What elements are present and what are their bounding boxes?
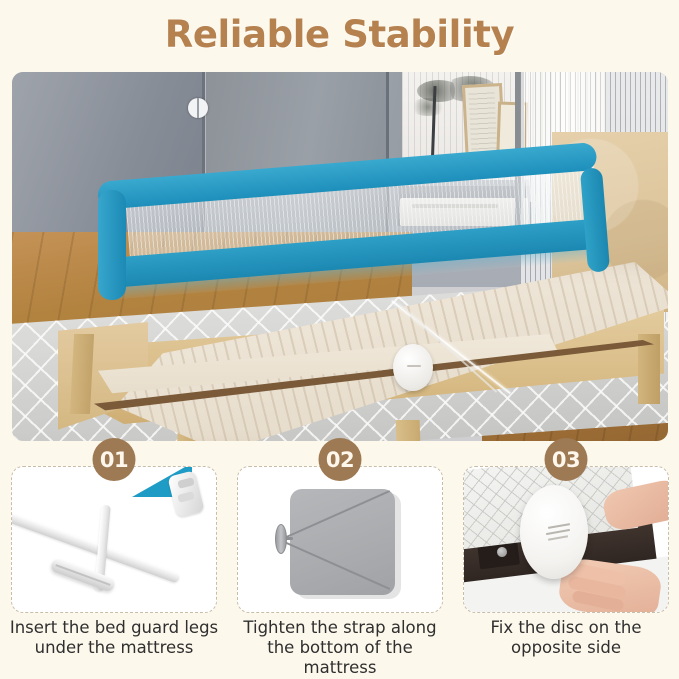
step-badge-2: 02 — [319, 438, 362, 481]
step-image-frame-1 — [11, 466, 217, 613]
step-caption-2: Tighten the strap along the bottom of th… — [231, 618, 449, 678]
step-badge-1: 01 — [93, 438, 136, 481]
step-image-frame-2 — [237, 466, 443, 613]
strap-disc-icon — [275, 524, 287, 554]
step-illustration-2 — [238, 467, 442, 612]
installation-steps: 01 Insert the bed guard legs under the m… — [0, 448, 679, 679]
picture-frame-large-inner — [468, 91, 497, 154]
page-title: Reliable Stability — [0, 13, 679, 56]
step-caption-1: Insert the bed guard legs under the matt… — [5, 618, 223, 658]
step-card-1: 01 Insert the bed guard legs under the m… — [11, 448, 217, 679]
bed-guard-left-post — [98, 190, 126, 300]
plant-leaf-icon — [410, 98, 446, 116]
step-caption-3: Fix the disc on the opposite side — [457, 618, 675, 658]
step-badge-3: 03 — [545, 438, 588, 481]
product-infographic: Reliable Stability — [0, 0, 679, 679]
bed-leg — [396, 420, 423, 441]
step-card-2: 02 Tighten the strap along the bottom of… — [237, 448, 443, 679]
anchor-disc — [393, 344, 433, 391]
step-image-frame-3 — [463, 466, 669, 613]
hero-product-photo — [12, 72, 668, 441]
anchor-disc-slot — [407, 365, 421, 367]
step-illustration-3 — [464, 467, 668, 612]
wardrobe-knob-split — [197, 98, 199, 118]
mattress-diagram — [290, 489, 395, 595]
step-illustration-1 — [12, 467, 216, 612]
bed-leg — [70, 334, 94, 414]
step-card-3: 03 — [463, 448, 669, 679]
